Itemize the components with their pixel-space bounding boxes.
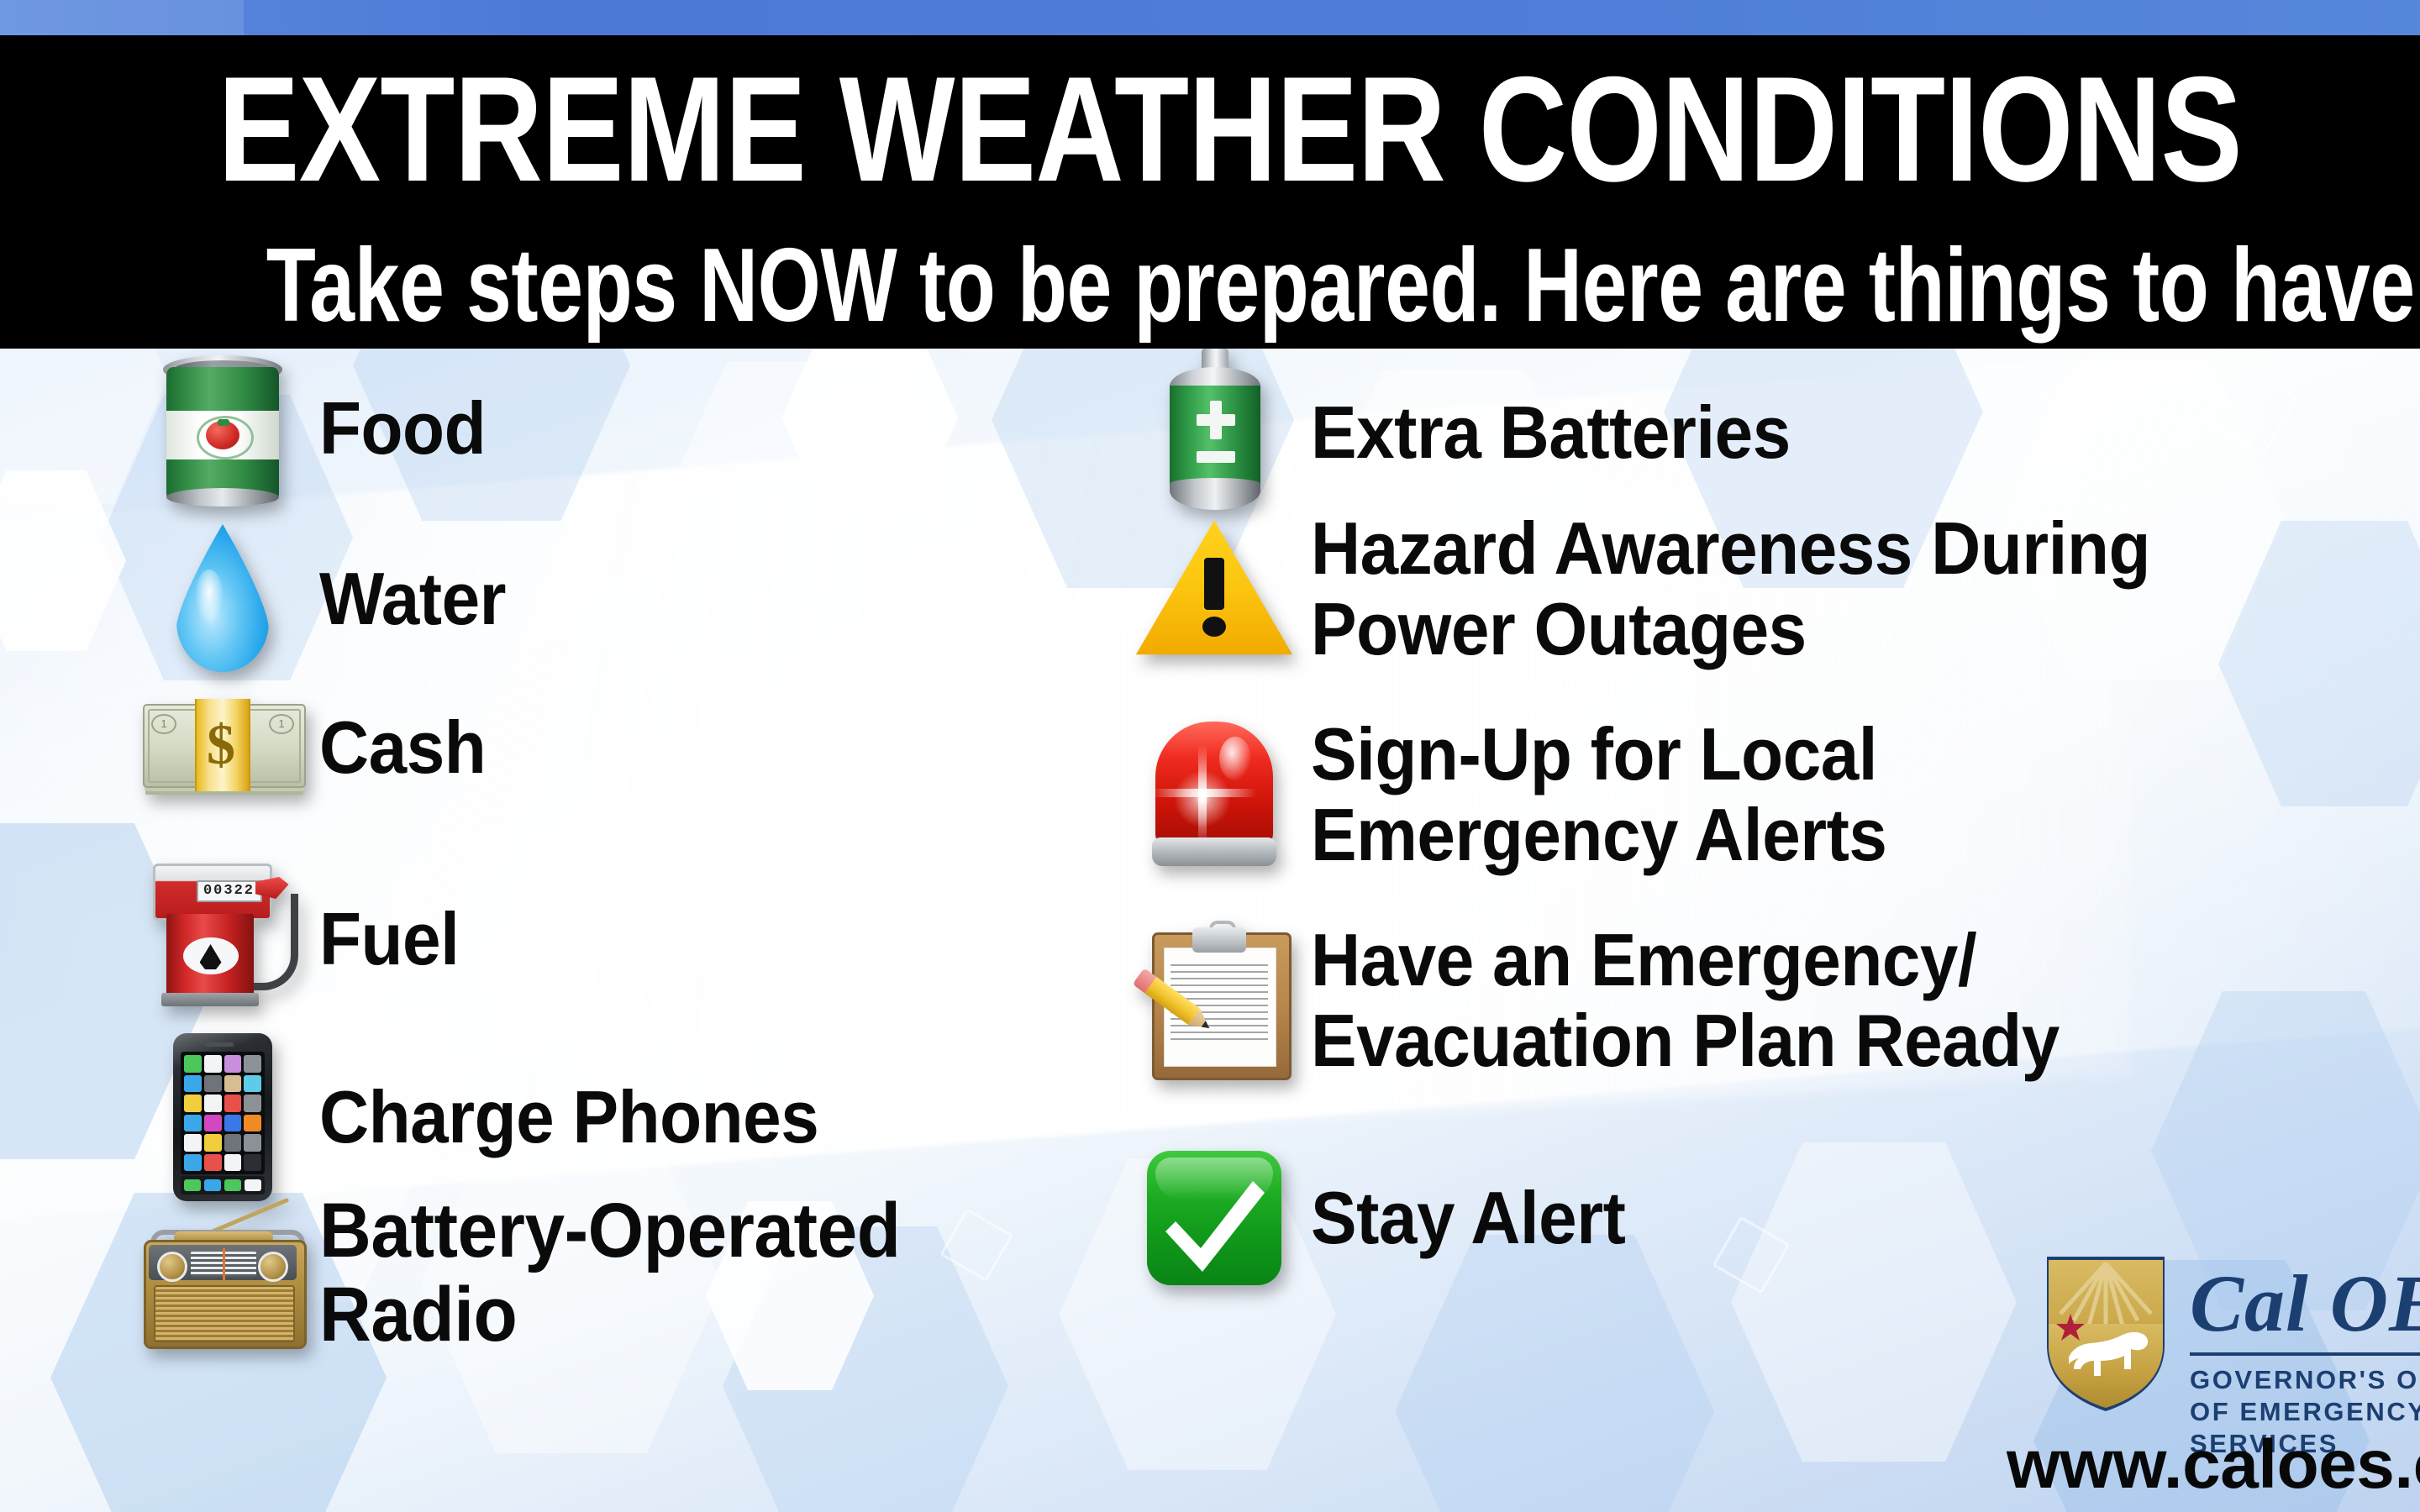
radio-icon [126,1200,319,1347]
green-check-icon [1118,1151,1311,1285]
top-accent-strip-highlight [0,0,244,35]
list-item-battery-radio: Battery-Operated Radio [126,1189,944,1357]
list-item-fuel: 00322 Fuel [126,857,470,1021]
warning-triangle-icon [1118,517,1311,660]
logo-divider [2190,1352,2420,1356]
caloes-logo[interactable]: Cal OES GOVERNOR'S OFFICE OF EMERGENCY S… [2044,1252,2420,1420]
battery-icon [1118,349,1311,517]
item-label: Stay Alert [1311,1178,1625,1258]
item-label: Fuel [319,899,459,979]
list-item-charge-phones: Charge Phones [126,1033,856,1201]
item-label: Battery-Operated Radio [319,1189,900,1357]
website-url[interactable]: www.caloes.ca. [2007,1428,2420,1502]
poster-canvas: EXTREME WEATHER CONDITIONS Take steps NO… [0,0,2420,1512]
water-drop-icon [126,521,319,676]
item-label: Charge Phones [319,1077,818,1158]
fuel-pump-icon: 00322 [126,857,319,1021]
item-label: Water [319,559,506,639]
list-item-cash: 11 $ Cash [126,697,498,798]
item-label: Hazard Awareness During Power Outages [1311,508,2150,669]
canned-food-icon [126,349,319,508]
brand-name: Cal OES [2190,1263,2420,1344]
cash-banknotes-icon: 11 $ [126,697,319,798]
item-label: Food [319,388,486,469]
page-subtitle: Take steps NOW to be prepared. Here are … [266,226,2154,345]
page-title: EXTREME WEATHER CONDITIONS [218,45,2202,213]
item-label: Sign-Up for Local Emergency Alerts [1311,714,1886,875]
list-item-extra-batteries: Extra Batteries [1118,349,1827,517]
list-item-evacuation-plan: Have an Emergency/ Evacuation Plan Ready [1118,920,2116,1081]
siren-light-icon [1118,715,1311,874]
list-item-emergency-alerts: Sign-Up for Local Emergency Alerts [1118,714,1930,875]
list-item-food: Food [126,349,498,508]
item-label: Extra Batteries [1311,392,1791,473]
clipboard-pencil-icon [1118,921,1311,1080]
item-label: Have an Emergency/ Evacuation Plan Ready [1311,920,2060,1081]
item-label: Cash [319,707,486,788]
list-item-hazard-awareness: Hazard Awareness During Power Outages [1118,508,2213,669]
california-bear-shield-icon [2044,1252,2168,1411]
list-item-stay-alert: Stay Alert [1118,1151,1649,1285]
top-accent-strip [0,0,2420,35]
smartphone-icon [126,1033,319,1201]
fuel-meter-reading: 00322 [197,880,262,902]
header-banner: EXTREME WEATHER CONDITIONS Take steps NO… [0,35,2420,349]
list-item-water: Water [126,521,520,676]
